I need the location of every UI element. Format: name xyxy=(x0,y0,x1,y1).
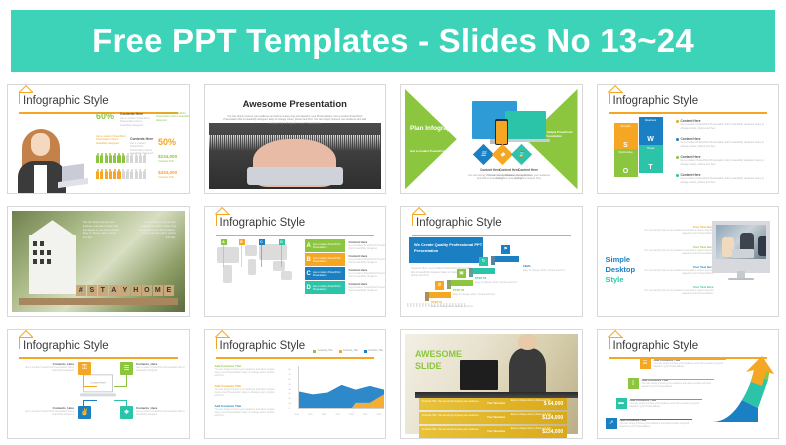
step-1-label: STEP 01 Easy to change colors, photos an… xyxy=(431,301,473,307)
slide-cell-13[interactable]: Infographic Style 60% Contents Here Get … xyxy=(0,78,197,200)
slide-23-title: AWESOME SLIDE xyxy=(415,348,462,372)
swot-block-o[interactable]: Opportunities O xyxy=(614,149,638,177)
bar-3-value: $234,000 xyxy=(542,429,563,435)
monitor-foot xyxy=(728,278,754,281)
left-triangle-shape xyxy=(405,89,457,189)
slide-cell-20[interactable]: Simple Desktop Style Your Text Here You … xyxy=(590,200,786,322)
slide-15[interactable]: Plan Infographic Get a modern PowerPoint… xyxy=(400,84,583,194)
slide-grid: Infographic Style 60% Contents Here Get … xyxy=(0,78,786,445)
swot-o-letter: O xyxy=(614,168,638,175)
slide-22[interactable]: Infographic Style Add Contents Title You… xyxy=(204,329,387,439)
chart-y-tick: 40 xyxy=(289,389,291,391)
arrow-item-1-body: You can simply impress your audience and… xyxy=(654,362,730,368)
chart-plot-area xyxy=(298,366,384,409)
step-1[interactable] xyxy=(429,292,451,298)
legend-item-1: Contents_Title xyxy=(313,350,332,353)
map-pin-c[interactable]: C xyxy=(259,239,265,245)
abcd-bar-c[interactable]: C Get a modern PowerPoint Presentation xyxy=(305,267,345,280)
abcd-c-text: Get a modern PowerPoint Presentation xyxy=(313,271,345,277)
chat-icon[interactable]: ▯ xyxy=(628,378,639,389)
slide-16-title: Infographic Style xyxy=(613,95,699,107)
refresh-icon[interactable]: ↻ xyxy=(479,257,488,266)
person-pictogram xyxy=(100,153,103,163)
map-pin-d[interactable]: D xyxy=(279,239,285,245)
slide-20[interactable]: Simple Desktop Style Your Text Here You … xyxy=(597,206,780,316)
stayhome-tiles: # S T A Y H O M E xyxy=(76,285,174,296)
center-label: Content Here xyxy=(84,381,112,384)
slide-cell-23[interactable]: AWESOME SLIDE Contents Title. You can si… xyxy=(393,323,590,445)
chart-text-1: Add Contents Title You can simply impres… xyxy=(215,364,277,378)
slide-18-title: Infographic Style xyxy=(220,217,306,229)
stat-body-1: Get a modern PowerPoint Presentation tha… xyxy=(120,117,152,127)
title-underline xyxy=(412,235,571,237)
chart-x-tick: 2017 xyxy=(336,414,340,416)
arrow-item-1-rule xyxy=(654,359,726,360)
slide-19-title-block: Infographic Style xyxy=(410,214,573,236)
abcd-desc-a-body: Get a modern PowerPoint Presentation tha… xyxy=(349,244,387,250)
stayhome-text-left: You can simply impress your audience and… xyxy=(83,221,121,239)
legend-item-3: Contents_Title xyxy=(364,350,383,353)
slide-20-title: Simple Desktop Style xyxy=(606,255,636,285)
stat-value-50: 50% xyxy=(158,137,176,147)
bullet-4-heading: Content Here xyxy=(681,173,701,177)
slide-21[interactable]: Infographic Style Content Here ⚿ ☰ ✌ xyxy=(7,329,190,439)
hands-on-laptop-photo xyxy=(253,139,336,187)
person-pictogram xyxy=(139,153,142,163)
desktop-row-3: Your Text Here You can simply impress yo… xyxy=(640,265,714,275)
person-pictogram xyxy=(143,153,146,163)
person-pictogram xyxy=(96,153,99,163)
wooden-shelf xyxy=(19,298,178,305)
hourglass-icon: ⌛ xyxy=(514,147,529,162)
step-4[interactable] xyxy=(495,256,519,262)
slide-17[interactable]: # S T A Y H O M E You can simply impress… xyxy=(7,206,190,316)
tile-h: H xyxy=(131,285,141,296)
slide-18-title-block: Infographic Style xyxy=(214,214,377,236)
arrow-item-3-rule xyxy=(630,399,702,400)
value-bar-3: Contents Title. You can simply impress y… xyxy=(419,426,567,438)
swot-w-letter: W xyxy=(639,136,663,143)
person-pictogram xyxy=(126,169,129,179)
slide-15-title-text: Plan Infographic xyxy=(410,125,460,132)
desktop-row-1: Your Text Here You can simply impress yo… xyxy=(640,225,714,235)
chart-x-tick: 2014 xyxy=(295,414,299,416)
person-pictogram xyxy=(105,169,108,179)
slide-16-title-block: Infographic Style xyxy=(607,92,770,114)
abcd-a-text: Get a modern PowerPoint Presentation xyxy=(313,243,345,249)
person-pictogram xyxy=(117,169,120,179)
chart-y-tick: 50 xyxy=(289,384,291,386)
chart-y-tick: 70 xyxy=(289,374,291,376)
chart-text-3: Add Contents Title You can simply impres… xyxy=(215,404,277,418)
person-pictogram xyxy=(135,169,138,179)
house-model xyxy=(29,235,76,293)
value-bar-2: Contents Title. You can simply impress y… xyxy=(419,412,567,424)
diamond-icon-3[interactable]: ⌛ xyxy=(511,144,532,165)
node-text-4: Contents_Here Get a modern PowerPoint Pr… xyxy=(136,406,190,416)
desk-monitor xyxy=(460,360,498,390)
tile-y: Y xyxy=(120,285,130,296)
businessman-photo xyxy=(509,348,547,394)
amount-orange: $434,000 xyxy=(158,170,177,175)
abcd-d-letter: D xyxy=(305,285,313,291)
slide-cell-16[interactable]: Infographic Style Strengths S Weakness W… xyxy=(590,78,786,200)
slide-15-title: Plan Infographic xyxy=(410,125,460,133)
swot-w-heading: Weakness xyxy=(640,119,662,122)
person-pictogram xyxy=(143,169,146,179)
arrow-item-3-body: You can simply impress your audience and… xyxy=(630,402,706,408)
team-photo xyxy=(716,225,766,259)
slide-21-title-block: Infographic Style xyxy=(17,337,180,359)
bar-2-mid: Your Text Here xyxy=(487,416,505,419)
slide-13[interactable]: Infographic Style 60% Contents Here Get … xyxy=(7,84,190,194)
tile-t: T xyxy=(98,285,108,296)
stat-heading-2: Contents Here xyxy=(130,137,153,141)
chart-y-tick: 10 xyxy=(289,403,291,405)
bar-2-value: $124,000 xyxy=(542,415,563,421)
map-pin-a[interactable]: A xyxy=(221,239,227,245)
chart-text-2: Add Contents Title You can simply impres… xyxy=(215,384,277,398)
chart-x-tick: 2019 xyxy=(363,414,367,416)
tile-a: A xyxy=(109,285,119,296)
plan-infographic-body: Plan Infographic Get a modern PowerPoint… xyxy=(405,89,578,189)
chart-y-tick: 80 xyxy=(289,369,291,371)
title-underline xyxy=(19,357,178,359)
connector-1b xyxy=(83,386,97,387)
abcd-bar-d[interactable]: D Get a modern PowerPoint Presentation xyxy=(305,281,345,294)
swot-block-t[interactable]: Threats T xyxy=(639,145,663,173)
step-4-label: FINAL Easy to change colors, photos and … xyxy=(523,265,565,271)
person-pictogram xyxy=(135,153,138,163)
bullet-dot-3 xyxy=(676,156,679,159)
plan-col-3: Content Here You can simply impress your… xyxy=(505,169,551,180)
page-title: Free PPT Templates - Slides No 13~24 xyxy=(92,22,694,60)
chart-x-tick: 2020 xyxy=(377,414,381,416)
bullet-dot-4 xyxy=(676,174,679,177)
slide-cell-14[interactable]: Awesome Presentation You can simply impr… xyxy=(197,78,394,200)
connector-1 xyxy=(83,373,84,387)
bullet-3-body: Get a modern PowerPoint Presentation tha… xyxy=(681,159,772,165)
title-line-1: Simple xyxy=(606,255,636,265)
bar-1-value: $ 64,000 xyxy=(544,401,563,407)
tile-o: O xyxy=(142,285,152,296)
smartphone-icon xyxy=(495,119,509,145)
chart-y-tick: 60 xyxy=(289,379,291,381)
tile-hash: # xyxy=(76,285,86,296)
arrow-item-2-rule xyxy=(642,379,714,380)
slide-15-subtitle: Get a modern PowerPoint xyxy=(410,149,447,153)
arrow-item-2-body: You can simply impress your audience and… xyxy=(642,382,718,388)
swot-s-letter: S xyxy=(614,142,638,149)
person-pictogram xyxy=(130,169,133,179)
header-banner: Free PPT Templates - Slides No 13~24 xyxy=(11,10,775,72)
slide-16[interactable]: Infographic Style Strengths S Weakness W… xyxy=(597,84,780,194)
slide-cell-22[interactable]: Infographic Style Add Contents Title You… xyxy=(197,323,394,445)
chart-x-tick: 2018 xyxy=(349,414,353,416)
rocket-icon[interactable]: ↗ xyxy=(606,418,617,429)
bullet-2-heading: Content Here xyxy=(681,137,701,141)
desktop-row-4: Your Text Here You can simply impress yo… xyxy=(640,285,714,295)
slide-14-title: Awesome Presentation xyxy=(209,99,382,110)
chart-y-tick: 20 xyxy=(289,398,291,400)
woman-illustration xyxy=(14,121,86,193)
chart-icon[interactable]: ☰ xyxy=(120,362,133,375)
people-row-green xyxy=(96,153,146,163)
step-3[interactable] xyxy=(473,268,495,274)
bar-2-left: Contents Title. You can simply impress y… xyxy=(422,414,479,417)
abcd-desc-b: Content Here Get a modern PowerPoint Pre… xyxy=(349,254,387,264)
document-icon[interactable]: ☰ xyxy=(640,358,651,369)
title-line-3: Style xyxy=(606,275,636,285)
bar-1-mid: Your Text Here xyxy=(487,402,505,405)
title-underline xyxy=(216,235,375,237)
bar-3-left: Contents Title. You can simply impress y… xyxy=(422,428,479,431)
arrow-item-4-body: You can simply impress your audience and… xyxy=(620,422,696,428)
abcd-a-letter: A xyxy=(305,243,313,249)
laptop-icon xyxy=(58,165,88,187)
person-pictogram xyxy=(113,153,116,163)
connector-2 xyxy=(126,373,127,387)
slide-21-title: Infographic Style xyxy=(23,340,109,352)
swot-t-letter: T xyxy=(639,164,663,171)
slide-cell-18[interactable]: Infographic Style A B C D A xyxy=(197,200,394,322)
callout-text: We Create Quality Professional PPT Prese… xyxy=(414,242,483,253)
ppt-template-gallery-page: Free PPT Templates - Slides No 13~24 Inf… xyxy=(0,0,786,445)
swot-s-heading: Strengths xyxy=(615,125,637,128)
slide-14-body: You can simply impress your audience and… xyxy=(223,115,368,125)
laptop-icon xyxy=(505,111,546,139)
stat-heading-1: Contents Here xyxy=(120,112,143,116)
chart-legend: Contents_Title Contents_Title Contents_T… xyxy=(313,350,383,353)
person-pictogram xyxy=(100,169,103,179)
amount-green: $234,000 xyxy=(158,154,177,159)
briefcase-icon: ☰ xyxy=(476,147,491,162)
stayhome-photo-background: # S T A Y H O M E You can simply impress… xyxy=(12,211,185,311)
diamond-icon-1[interactable]: ☰ xyxy=(473,144,494,165)
slide-24-title: Infographic Style xyxy=(613,340,699,352)
connector-4b xyxy=(114,400,127,401)
title-underline xyxy=(609,112,768,114)
slide-24[interactable]: Infographic Style ☰ Add Contents Title Y… xyxy=(597,329,780,439)
desktop-row-2: Your Text Here You can simply impress yo… xyxy=(640,245,714,255)
abcd-desc-b-body: Get a modern PowerPoint Presentation tha… xyxy=(349,258,387,264)
gear-icon[interactable]: ⚙ xyxy=(435,281,444,290)
value-bar-1: Contents Title. You can simply impress y… xyxy=(419,398,567,410)
photo-background: Awesome Presentation You can simply impr… xyxy=(209,89,382,189)
connector-2b xyxy=(114,386,127,387)
person-pictogram xyxy=(122,169,125,179)
node-text-2: Contents_Here Get a modern PowerPoint Pr… xyxy=(136,362,190,372)
legend-item-2: Contents_Title xyxy=(339,350,358,353)
abcd-desc-d: Content Here Get a modern PowerPoint Pre… xyxy=(349,282,387,292)
slide-19[interactable]: Infographic Style We Create Quality Prof… xyxy=(400,206,583,316)
slide-22-title-block: Infographic Style xyxy=(214,337,377,359)
person-pictogram xyxy=(122,153,125,163)
slide-cell-24[interactable]: Infographic Style ☰ Add Contents Title Y… xyxy=(590,323,786,445)
awesome-line-1: AWESOME xyxy=(415,348,462,360)
diamond-icon-2[interactable]: ◆ xyxy=(492,144,513,165)
abcd-c-letter: C xyxy=(305,271,313,277)
abcd-bar-a[interactable]: A Get a modern PowerPoint Presentation xyxy=(305,239,345,252)
chart-x-tick: 2015 xyxy=(308,414,312,416)
bullet-1-body: Get a modern PowerPoint Presentation tha… xyxy=(681,123,772,129)
abcd-desc-d-body: Get a modern PowerPoint Presentation tha… xyxy=(349,286,387,292)
bullet-2-body: Get a modern PowerPoint Presentation tha… xyxy=(681,141,772,147)
node-text-3: Contents_Here Get a modern PowerPoint Pr… xyxy=(22,406,74,416)
bar-1-left: Contents Title. You can simply impress y… xyxy=(422,400,479,403)
bullet-1-heading: Content Here xyxy=(681,119,701,123)
abcd-desc-a: Content Here Get a modern PowerPoint Pre… xyxy=(349,240,387,250)
amount-caption-green: Contents Title xyxy=(158,160,174,163)
abcd-d-text: Get a modern PowerPoint Presentation xyxy=(313,285,345,291)
bar-3-mid: Your Text Here xyxy=(487,430,505,433)
bullet-dot-2 xyxy=(676,138,679,141)
lock-icon[interactable]: ⚿ xyxy=(78,362,91,375)
chart-x-tick: 2016 xyxy=(322,414,326,416)
area-chart: 01020304050607080 2014201520162017201820… xyxy=(289,364,385,416)
slide-18[interactable]: Infographic Style A B C D A xyxy=(204,206,387,316)
briefcase-icon[interactable]: ▬ xyxy=(616,398,627,409)
map-pin-b[interactable]: B xyxy=(239,239,245,245)
arrow-item-4-rule xyxy=(620,419,692,420)
bullet-3-heading: Content Here xyxy=(681,155,701,159)
slide-cell-17[interactable]: # S T A Y H O M E You can simply impress… xyxy=(0,200,197,322)
tile-s: S xyxy=(87,285,97,296)
abcd-desc-c: Content Here Get a modern PowerPoint Pre… xyxy=(349,268,387,278)
person-pictogram xyxy=(109,169,112,179)
award-icon[interactable]: ⚑ xyxy=(501,245,510,254)
abcd-desc-c-body: Get a modern PowerPoint Presentation tha… xyxy=(349,272,387,278)
bullet-4-body: Get a modern PowerPoint Presentation tha… xyxy=(681,177,772,183)
person-pictogram xyxy=(105,153,108,163)
target-icon: ◆ xyxy=(495,147,510,162)
swot-t-heading: Threats xyxy=(640,147,662,150)
chart-y-tick: 0 xyxy=(289,408,290,410)
desktop-monitor xyxy=(712,221,770,273)
monitor-icon[interactable]: ▣ xyxy=(457,269,466,278)
stat-extra-2: Get a modern PowerPoint Presentation tha… xyxy=(96,135,128,145)
person-pictogram xyxy=(117,153,120,163)
person-pictogram xyxy=(139,169,142,179)
person-pictogram xyxy=(96,169,99,179)
abcd-b-letter: B xyxy=(305,257,313,263)
chart-y-tick: 30 xyxy=(289,393,291,395)
swot-o-heading: Opportunities xyxy=(615,151,637,154)
tile-e: E xyxy=(164,285,174,296)
people-row-orange xyxy=(96,169,146,179)
world-map xyxy=(215,241,297,287)
abcd-bar-b[interactable]: B Get a modern PowerPoint Presentation xyxy=(305,253,345,266)
swot-block-w[interactable]: Weakness W xyxy=(639,117,663,145)
thumbs-up-icon[interactable]: ✌ xyxy=(78,406,91,419)
slide-22-title: Infographic Style xyxy=(220,340,306,352)
plan-col-3-heading: Content Here xyxy=(505,169,551,172)
awesome-photo-background: AWESOME SLIDE Contents Title. You can si… xyxy=(405,334,578,434)
step-2[interactable] xyxy=(451,280,473,286)
slide-cell-19[interactable]: Infographic Style We Create Quality Prof… xyxy=(393,200,590,322)
amount-caption-orange: Contents Title xyxy=(158,176,174,179)
stat-extra-1: Get a modern PowerPoint Presentation tha… xyxy=(156,112,190,122)
plan-col-3-body: You can simply impress your audience and… xyxy=(506,174,550,180)
puzzle-icon[interactable]: ❖ xyxy=(120,406,133,419)
slide-19-title: Infographic Style xyxy=(416,217,502,229)
slide-13-title: Infographic Style xyxy=(23,95,109,107)
stat-value-60: 60% xyxy=(96,111,114,121)
person-pictogram xyxy=(126,153,129,163)
step-2-label: STEP 02 Easy to change colors, photos an… xyxy=(453,289,495,295)
person-pictogram xyxy=(130,153,133,163)
callout-box: We Create Quality Professional PPT Prese… xyxy=(409,237,483,263)
step-3-label: STEP 03 Easy to change colors, photos an… xyxy=(475,277,517,283)
slide-cell-21[interactable]: Infographic Style Content Here ⚿ ☰ ✌ xyxy=(0,323,197,445)
stayhome-text-right: You can simply impress your audience and… xyxy=(138,221,176,239)
person-pictogram xyxy=(113,169,116,179)
title-line-2: Desktop xyxy=(606,265,636,275)
tile-m: M xyxy=(153,285,163,296)
abcd-b-text: Get a modern PowerPoint Presentation xyxy=(313,257,345,263)
title-underline xyxy=(216,357,375,359)
slide-23[interactable]: AWESOME SLIDE Contents Title. You can si… xyxy=(400,329,583,439)
chart-svg xyxy=(299,366,384,409)
bullet-dot-1 xyxy=(676,120,679,123)
person-pictogram xyxy=(109,153,112,163)
awesome-line-2: SLIDE xyxy=(415,360,462,372)
swot-block-s[interactable]: Strengths S xyxy=(614,123,638,151)
slide-cell-15[interactable]: Plan Infographic Get a modern PowerPoint… xyxy=(393,78,590,200)
connector-3b xyxy=(83,400,97,401)
node-text-1: Contents_Here Get a modern PowerPoint Pr… xyxy=(22,362,74,372)
slide-14[interactable]: Awesome Presentation You can simply impr… xyxy=(204,84,387,194)
